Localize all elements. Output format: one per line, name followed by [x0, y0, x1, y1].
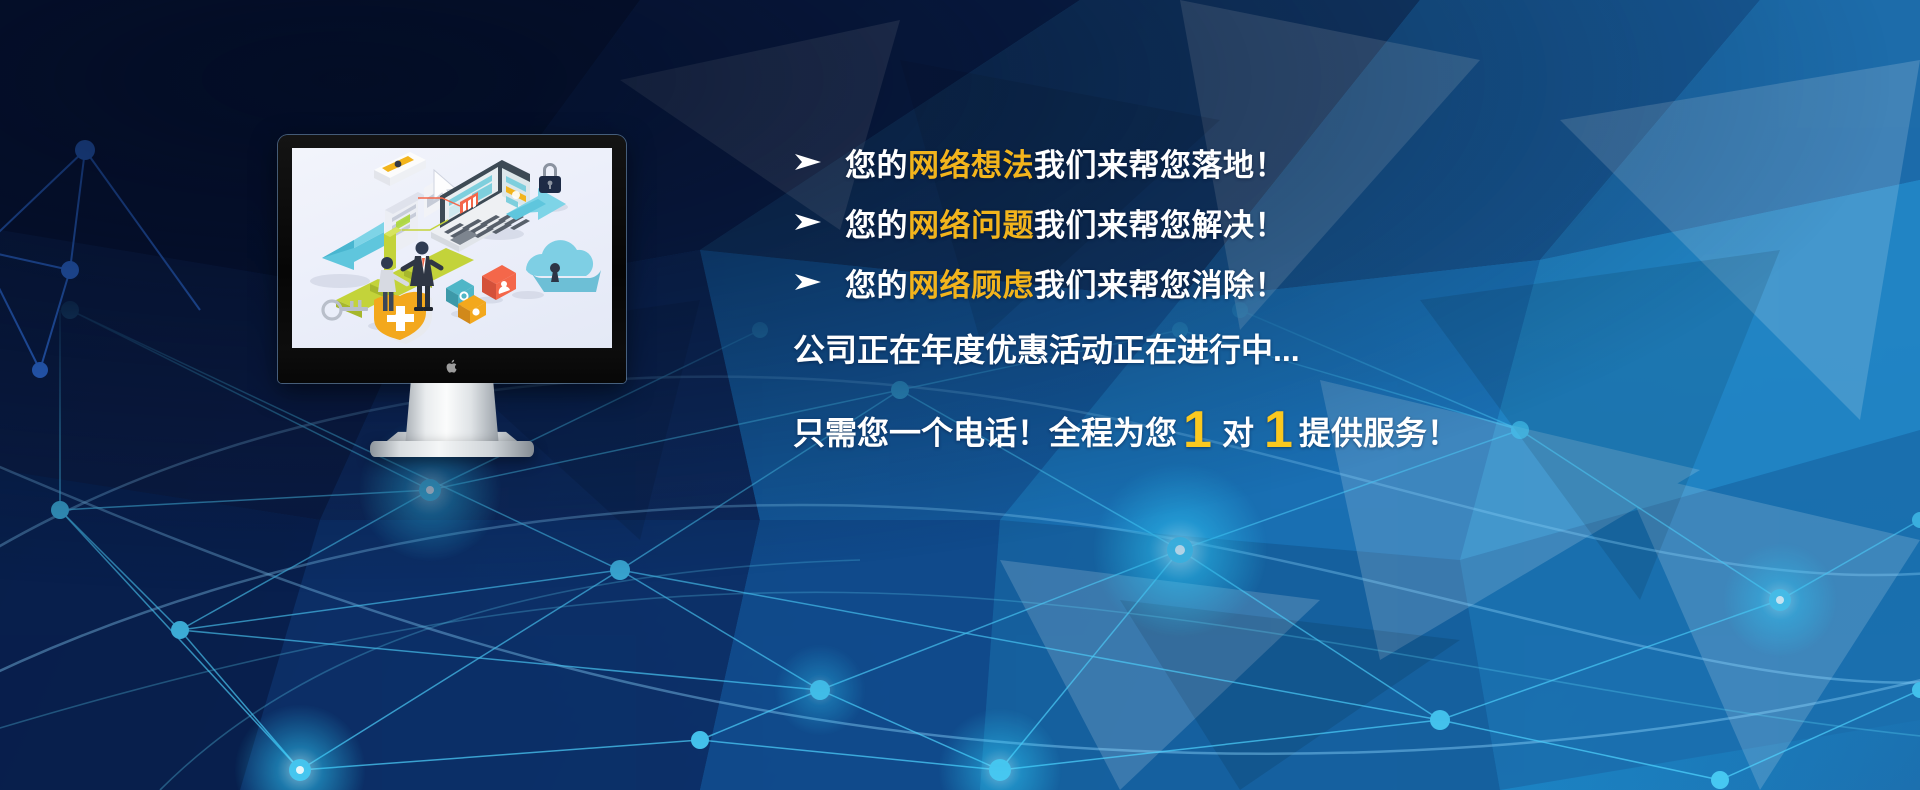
bullet-2-highlight: 网络问题 — [908, 208, 1034, 243]
bullet-1-pre: 您的 — [845, 148, 908, 183]
callout-line: 只需您一个电话！全程为您 1 对 1 提供服务！ — [793, 401, 1793, 454]
bullet-item-3: 您的网络顾虑我们来帮您消除！ — [793, 252, 1793, 312]
monitor-screen — [292, 148, 612, 348]
monitor-stand-base — [370, 441, 534, 457]
hero-banner: 您的网络想法我们来帮您落地！ 您的网络问题我们来帮您解决！ 您的网络顾虑我们来帮… — [0, 0, 1920, 790]
monitor-chin — [278, 349, 626, 383]
arrow-right-icon — [793, 152, 823, 172]
marketing-copy-block: 您的网络想法我们来帮您落地！ 您的网络问题我们来帮您解决！ 您的网络顾虑我们来帮… — [793, 132, 1793, 454]
apple-logo-icon — [446, 359, 459, 374]
bullet-text-1: 您的网络想法我们来帮您落地！ — [845, 140, 1286, 185]
bullet-1-post: 我们来帮您落地！ — [1034, 148, 1286, 183]
bullet-text-3: 您的网络顾虑我们来帮您消除！ — [845, 260, 1286, 305]
arrow-right-icon — [793, 212, 823, 232]
imac-monitor-illustration — [278, 135, 626, 455]
bullet-3-post: 我们来帮您消除！ — [1034, 268, 1286, 303]
monitor-stand-neck — [405, 383, 499, 447]
bullet-2-post: 我们来帮您解决！ — [1034, 208, 1286, 243]
callout-number-1: 1 — [1177, 404, 1218, 456]
callout-part-1: 只需您一个电话！全程为您 — [793, 408, 1177, 454]
monitor-bezel — [278, 135, 626, 383]
arrow-right-icon — [793, 272, 823, 292]
bullet-item-1: 您的网络想法我们来帮您落地！ — [793, 132, 1793, 192]
callout-middle: 对 — [1218, 408, 1258, 454]
bullet-2-pre: 您的 — [845, 208, 908, 243]
bullet-3-pre: 您的 — [845, 268, 908, 303]
bullet-text-2: 您的网络问题我们来帮您解决！ — [845, 200, 1286, 245]
bullet-1-highlight: 网络想法 — [908, 148, 1034, 183]
callout-part-2: 提供服务！ — [1299, 408, 1459, 454]
bullet-item-2: 您的网络问题我们来帮您解决！ — [793, 192, 1793, 252]
bullet-3-highlight: 网络顾虑 — [908, 268, 1034, 303]
callout-number-2: 1 — [1258, 404, 1299, 456]
promo-line: 公司正在年度优惠活动正在进行中... — [793, 325, 1793, 371]
